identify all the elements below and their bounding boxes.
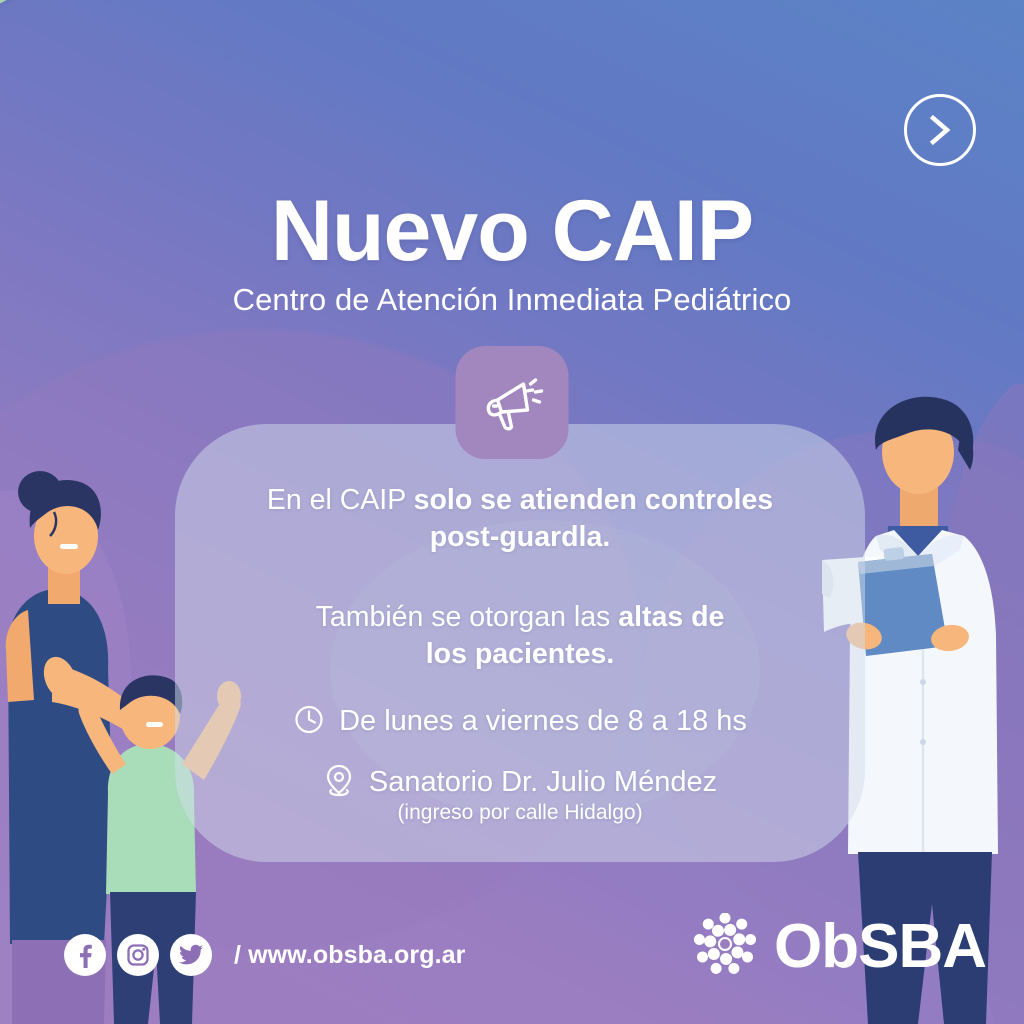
paragraph-two-plain: También se otorgan las [316, 601, 619, 633]
hours-row: De lunes a viernes de 8 a 18 hs [211, 703, 829, 740]
twitter-icon[interactable] [170, 934, 212, 976]
footer-social-bar: / www.obsba.org.ar [64, 934, 465, 976]
page-subtitle: Centro de Atención Inmediata Pediátrico [0, 282, 1024, 318]
paragraph-one-plain: En el CAIP [267, 484, 414, 516]
paragraph-two-bold-b: los pacientes. [426, 638, 615, 670]
info-ribbon: INFO IMPORTANTE [0, 0, 655, 152]
paragraph-one: En el CAIP solo se atienden controles po… [211, 482, 829, 556]
location-row: Sanatorio Dr. Julio Méndez [211, 762, 829, 803]
paragraph-two-bold-a: altas de [618, 601, 724, 633]
obsba-brand: ObSBA [694, 913, 986, 980]
paragraph-one-bold-a: solo se atienden controles [414, 484, 774, 516]
page-header: Nuevo CAIP Centro de Atención Inmediata … [0, 188, 1024, 318]
brand-name: ObSBA [774, 916, 986, 978]
obsba-rosette-logo [694, 913, 756, 980]
hours-text: De lunes a viernes de 8 a 18 hs [339, 705, 747, 738]
facebook-icon[interactable] [64, 934, 106, 976]
paragraph-one-bold-b: post-guardla. [430, 521, 611, 553]
chevron-right-icon[interactable] [904, 94, 976, 166]
instagram-icon[interactable] [117, 934, 159, 976]
website-url[interactable]: / www.obsba.org.ar [234, 941, 465, 970]
location-note: (ingreso por calle Hidalgo) [211, 801, 829, 825]
megaphone-icon [456, 346, 569, 459]
page-title: Nuevo CAIP [0, 188, 1024, 274]
location-pin-icon [323, 762, 355, 803]
poster-canvas: INFO IMPORTANTE Nuevo CAIP Centro de Ate… [0, 0, 1024, 1024]
location-text: Sanatorio Dr. Julio Méndez [369, 766, 717, 799]
info-card: En el CAIP solo se atienden controles po… [175, 424, 865, 862]
paragraph-two: También se otorgan las altas de los paci… [211, 599, 829, 673]
clock-icon [293, 703, 325, 740]
